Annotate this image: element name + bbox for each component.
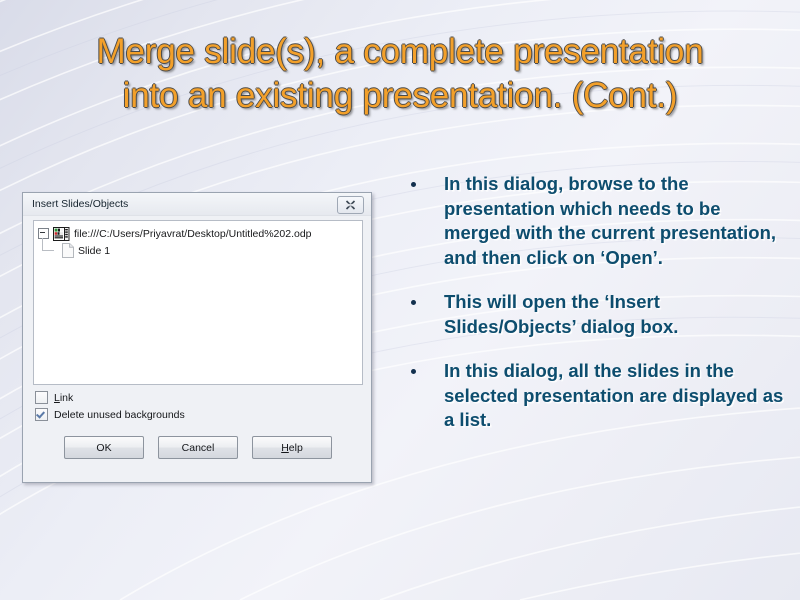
insert-slides-objects-dialog: Insert Slides/Objects bbox=[22, 192, 372, 483]
bullet-text: This will open the ‘Insert Slides/Object… bbox=[444, 291, 678, 337]
presentation-document-icon bbox=[53, 227, 70, 241]
delete-backgrounds-label-rest: rounds bbox=[153, 409, 185, 421]
close-icon[interactable] bbox=[337, 196, 364, 214]
tree-item-slide-label: Slide 1 bbox=[78, 245, 110, 257]
ok-button[interactable]: OK bbox=[64, 436, 144, 459]
bullet-dot-icon bbox=[411, 300, 416, 305]
bullet-item: This will open the ‘Insert Slides/Object… bbox=[404, 290, 788, 339]
slides-tree-listbox[interactable]: file:///C:/Users/Priyavrat/Desktop/Untit… bbox=[33, 220, 363, 385]
ok-button-label: OK bbox=[96, 442, 111, 454]
link-checkbox[interactable] bbox=[35, 391, 48, 404]
cancel-button-label: Cancel bbox=[182, 442, 215, 454]
cancel-button[interactable]: Cancel bbox=[158, 436, 238, 459]
bullet-text: In this dialog, browse to the presentati… bbox=[444, 173, 776, 268]
help-button-mnemonic: H bbox=[281, 442, 289, 454]
help-button-label-rest: elp bbox=[289, 442, 303, 454]
bullet-list: In this dialog, browse to the presentati… bbox=[404, 172, 788, 453]
bullet-item: In this dialog, browse to the presentati… bbox=[404, 172, 788, 270]
slide-title: Merge slide(s), a complete presentation … bbox=[28, 30, 772, 118]
bullet-text: In this dialog, all the slides in the se… bbox=[444, 360, 783, 430]
slide-canvas: Merge slide(s), a complete presentation … bbox=[0, 0, 800, 600]
bullet-item: In this dialog, all the slides in the se… bbox=[404, 359, 788, 433]
delete-backgrounds-label-start: Delete unused back bbox=[54, 409, 147, 421]
link-label-rest: ink bbox=[60, 392, 73, 404]
close-glyph bbox=[345, 200, 356, 210]
dialog-button-bar: OK Cancel Help bbox=[23, 436, 373, 459]
slide-page-icon bbox=[62, 243, 74, 258]
tree-item-slide[interactable]: Slide 1 bbox=[34, 242, 362, 259]
dialog-title: Insert Slides/Objects bbox=[32, 198, 128, 210]
tree-item-root-label: file:///C:/Users/Priyavrat/Desktop/Untit… bbox=[74, 228, 312, 240]
tree-connector-line bbox=[42, 238, 54, 251]
delete-backgrounds-checkbox[interactable] bbox=[35, 408, 48, 421]
delete-backgrounds-label: Delete unused backgrounds bbox=[54, 409, 185, 421]
checkbox-row-delete-backgrounds[interactable]: Delete unused backgrounds bbox=[35, 408, 185, 421]
tree-item-root[interactable]: file:///C:/Users/Priyavrat/Desktop/Untit… bbox=[34, 225, 362, 242]
link-label: Link bbox=[54, 392, 73, 404]
help-button-label: Help bbox=[281, 442, 303, 454]
dialog-titlebar: Insert Slides/Objects bbox=[23, 193, 371, 216]
help-button[interactable]: Help bbox=[252, 436, 332, 459]
checkbox-row-link[interactable]: Link bbox=[35, 391, 73, 404]
bullet-dot-icon bbox=[411, 369, 416, 374]
bullet-dot-icon bbox=[411, 182, 416, 187]
